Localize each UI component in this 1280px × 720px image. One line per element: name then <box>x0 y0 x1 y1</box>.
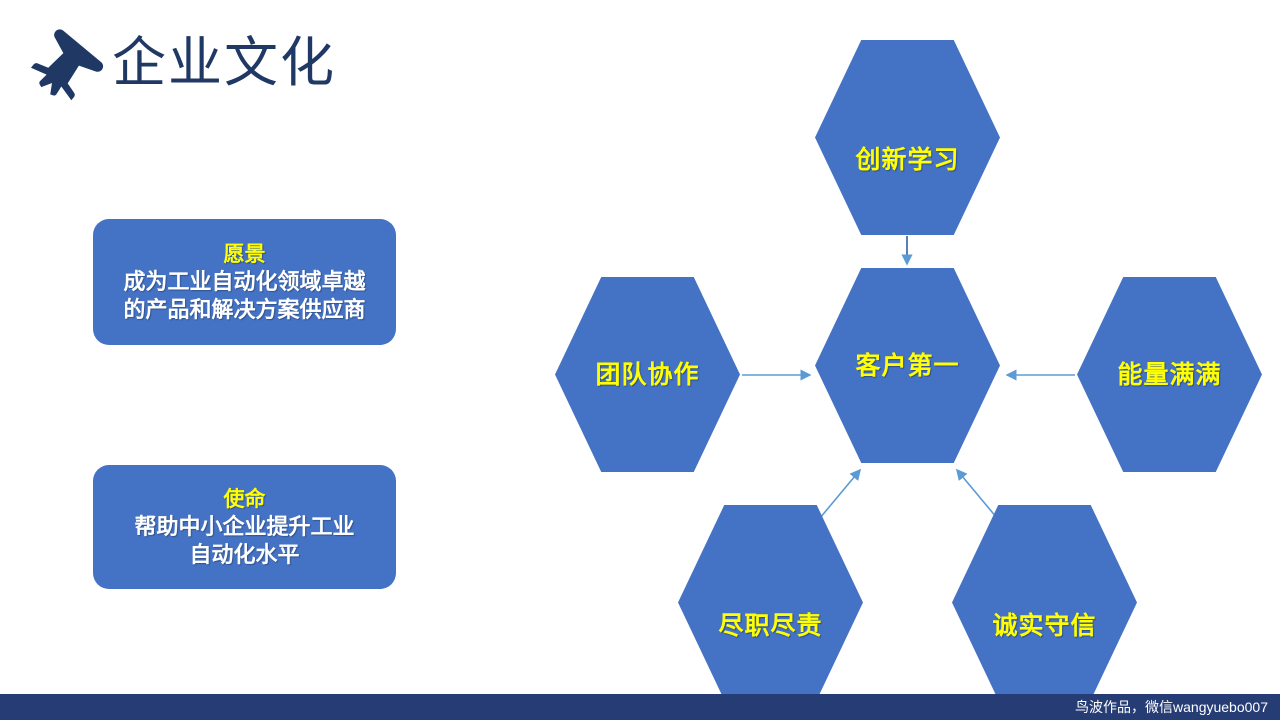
vision-card: 愿景 成为工业自动化领域卓越 的产品和解决方案供应商 <box>93 219 396 345</box>
footer-credit: 鸟波作品，微信wangyuebo007 <box>1075 694 1268 720</box>
hexagon-honesty[interactable]: 诚实守信 <box>952 505 1137 700</box>
hexagon-label: 尽职尽责 <box>718 611 822 641</box>
hexagon-label: 创新学习 <box>855 145 959 175</box>
hexagon-innovation-learning[interactable]: 创新学习 <box>815 40 1000 235</box>
hexagon-dutiful[interactable]: 尽职尽责 <box>678 505 863 700</box>
hexagon-label: 诚实守信 <box>992 611 1096 641</box>
slide-canvas: 企业文化 愿景 成为工业自动化领域卓越 的产品和解决方案供应商 使命 帮助中小企… <box>0 0 1280 720</box>
hexagon-full-of-energy[interactable]: 能量满满 <box>1077 277 1262 472</box>
vision-card-line: 的产品和解决方案供应商 <box>123 296 365 324</box>
mission-card-body: 帮助中小企业提升工业 自动化水平 <box>134 513 354 569</box>
hexagon-teamwork[interactable]: 团队协作 <box>555 277 740 472</box>
vision-card-line: 成为工业自动化领域卓越 <box>123 268 365 296</box>
hexagon-label: 能量满满 <box>1117 360 1221 390</box>
mission-card-line: 帮助中小企业提升工业 <box>134 513 354 541</box>
hexagon-customer-first[interactable]: 客户第一 <box>815 268 1000 463</box>
airplane-icon <box>24 26 108 110</box>
hexagon-label: 客户第一 <box>855 351 959 381</box>
page-title: 企业文化 <box>112 27 336 99</box>
vision-card-heading: 愿景 <box>224 241 266 268</box>
footer-bar: 鸟波作品，微信wangyuebo007 <box>0 694 1280 720</box>
mission-card: 使命 帮助中小企业提升工业 自动化水平 <box>93 465 396 589</box>
hexagon-label: 团队协作 <box>595 360 699 390</box>
culture-hexagon-diagram: 创新学习 团队协作 客户第一 能量满满 尽职尽责 诚实守信 <box>520 0 1280 694</box>
mission-card-heading: 使命 <box>224 486 266 513</box>
mission-card-line: 自动化水平 <box>134 541 354 569</box>
vision-card-body: 成为工业自动化领域卓越 的产品和解决方案供应商 <box>123 268 365 324</box>
